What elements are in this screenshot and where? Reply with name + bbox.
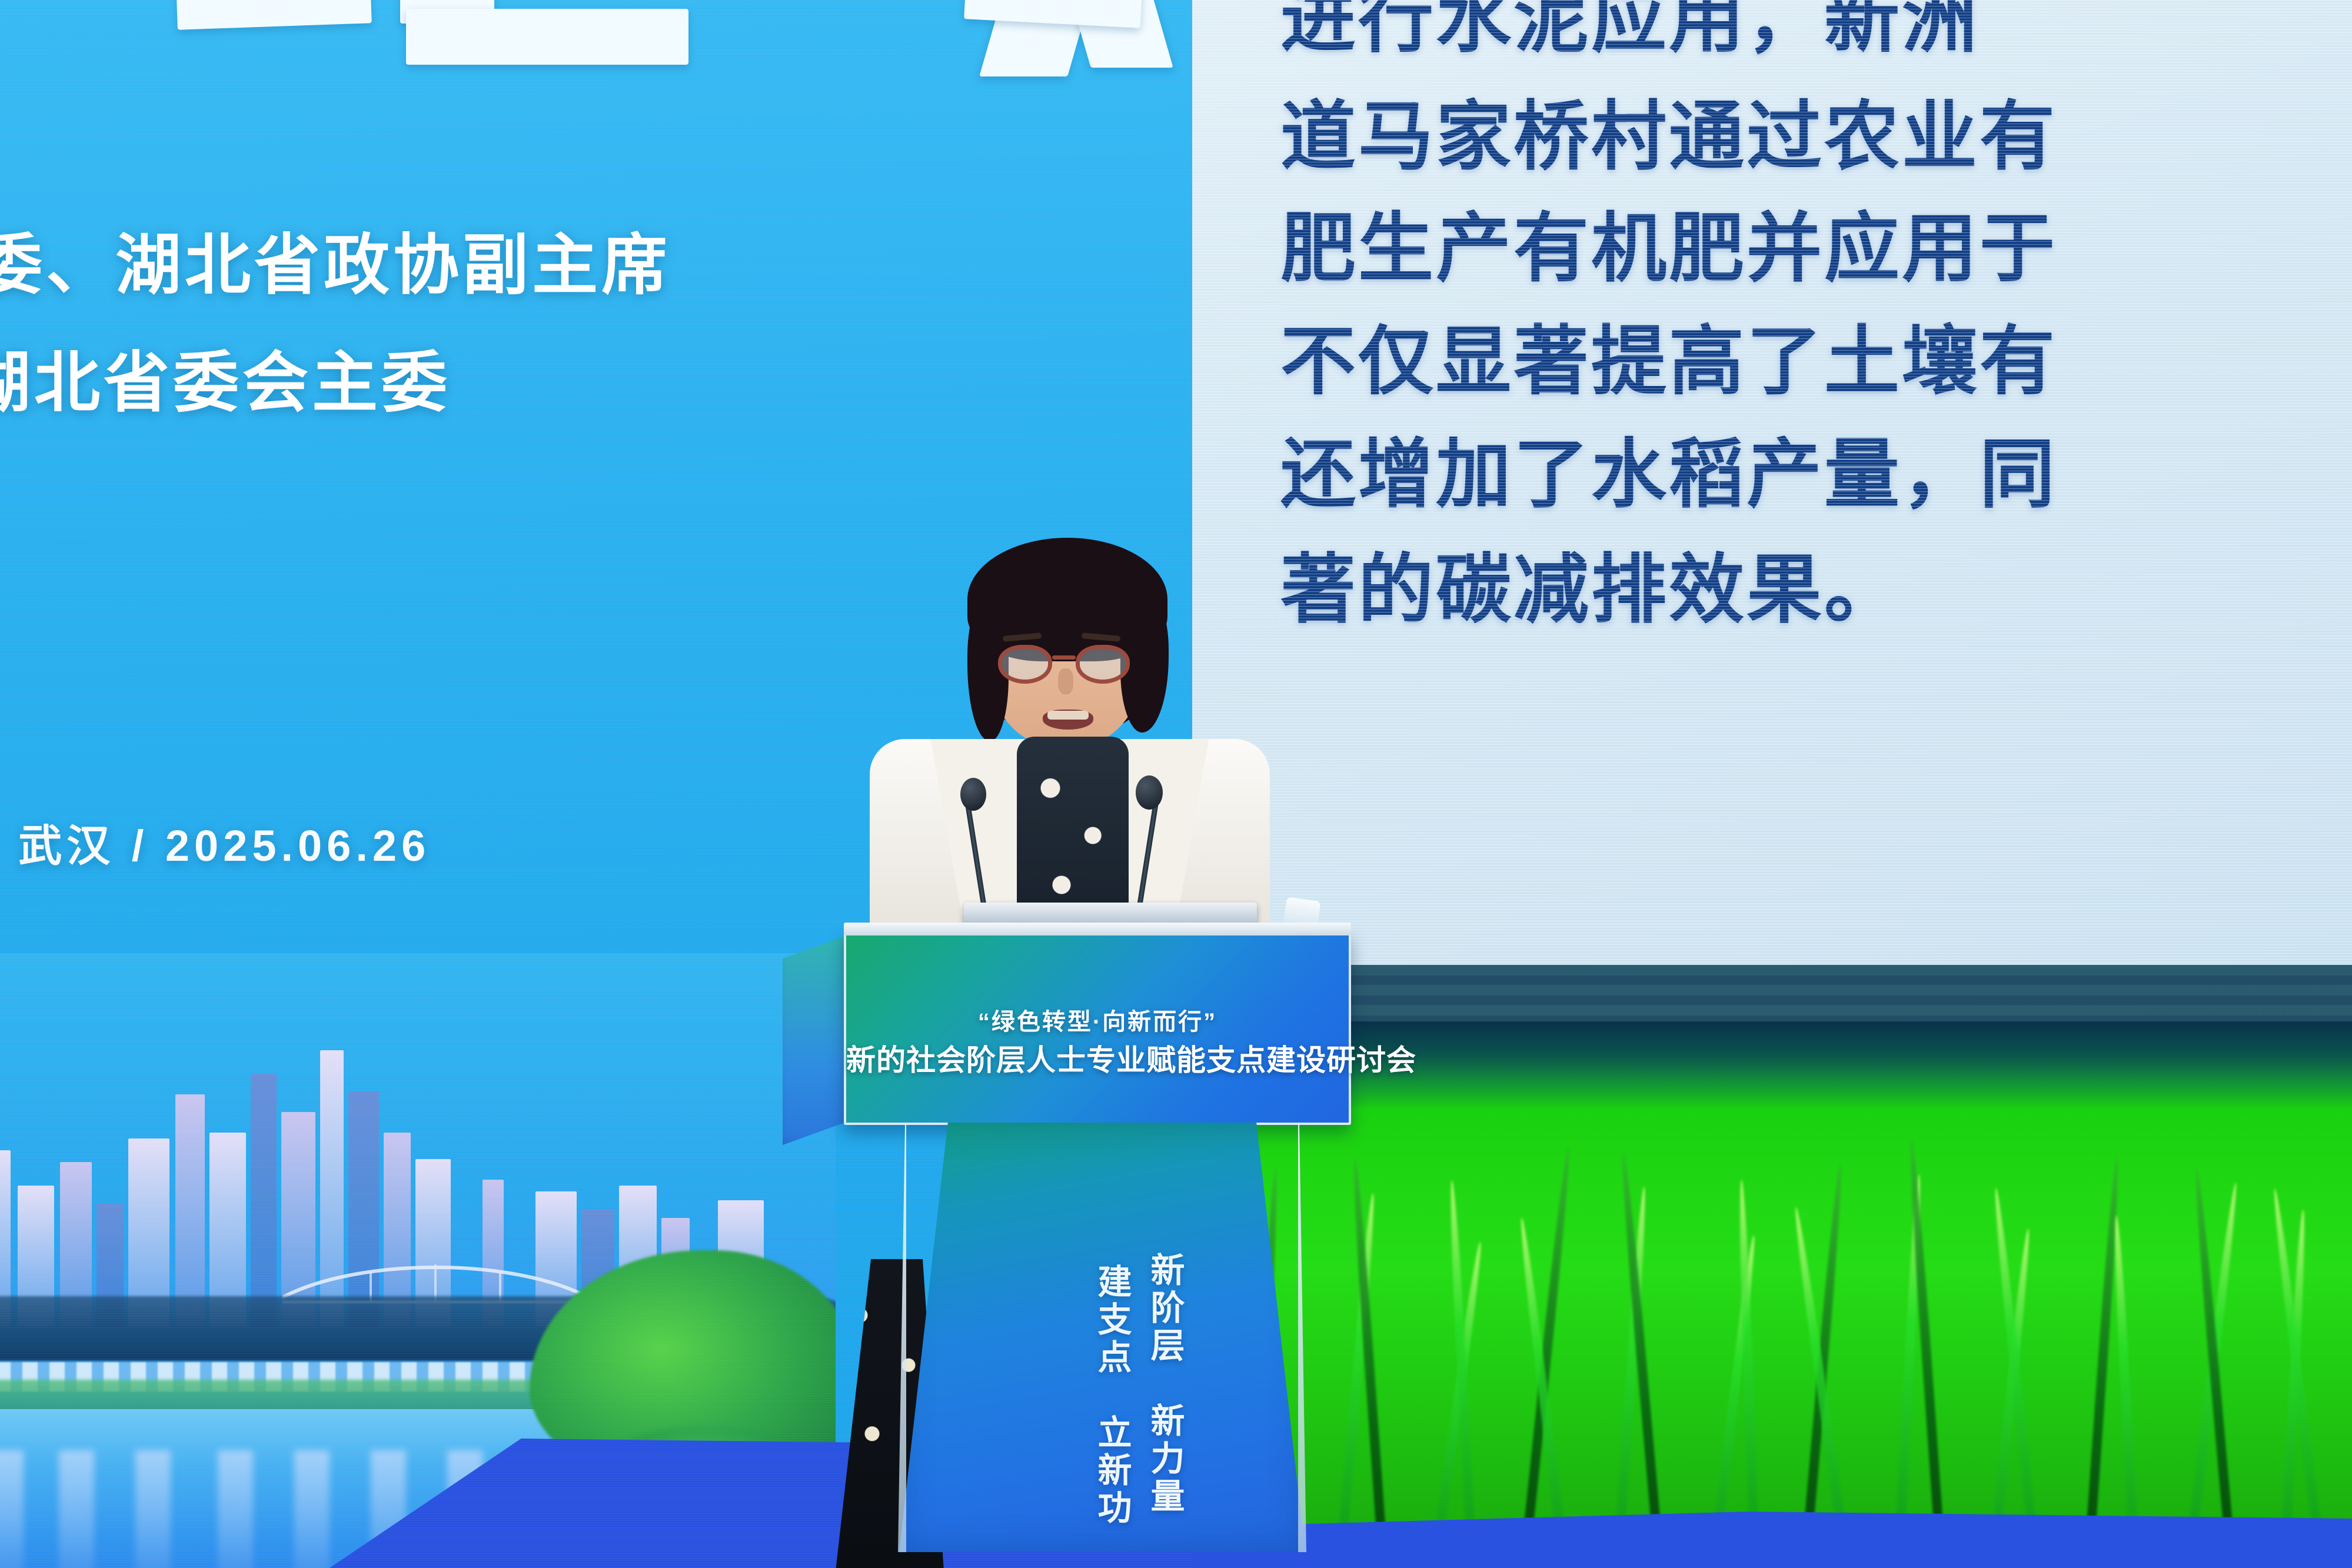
slogan-glyph: 支	[1092, 1301, 1130, 1339]
podium-edge-right	[1298, 1123, 1306, 1552]
slogan-glyph	[1145, 1365, 1183, 1403]
eyeglasses-lens-right	[1076, 645, 1130, 684]
slogan-glyph: 新	[1092, 1452, 1130, 1490]
backdrop-title-glyph-fragment	[175, 0, 371, 30]
slogan-glyph	[1092, 1377, 1130, 1414]
lectern-podium: “绿色转型·向新而行” 新的社会阶层人士专业赋能支点建设研讨会 中国·武汉 / …	[783, 887, 1406, 1568]
slide-text-line: 还增加了水稻产量，同	[1280, 413, 2057, 522]
podium-slogan-column-left: 建支点 立新功	[1091, 1264, 1131, 1527]
slogan-glyph: 新	[1145, 1252, 1183, 1290]
slogan-glyph: 功	[1092, 1490, 1130, 1527]
eyeglasses-lens-left	[998, 645, 1052, 684]
slide-text-line: 著的碳减排效果。	[1280, 528, 1902, 637]
slide-text-line: 不仅显著提高了土壤有	[1280, 300, 2057, 409]
slide-text-line: 肥生产有机肥并应用于	[1280, 187, 2057, 296]
slogan-glyph: 建	[1092, 1264, 1130, 1301]
skyline-building	[175, 1094, 205, 1327]
slogan-glyph: 量	[1145, 1478, 1183, 1516]
slogan-glyph: 力	[1145, 1440, 1183, 1478]
backdrop-caption-line-1: 委、湖北省政协副主席	[0, 212, 671, 307]
podium-top-cap	[844, 923, 1351, 936]
backdrop-caption-line-2: 湖北省委会主委	[0, 329, 451, 425]
podium-side-panel	[783, 933, 853, 1145]
microphone-icon	[960, 778, 986, 811]
skyline-building	[251, 1074, 277, 1327]
slogan-glyph: 阶	[1145, 1290, 1183, 1327]
podium-headline: “绿色转型·向新而行”	[846, 1003, 1349, 1037]
slogan-glyph: 点	[1092, 1339, 1130, 1377]
conference-stage-photo: 委、湖北省政协副主席 湖北省委会主委 · 武汉 / 2025.06.26	[0, 0, 2352, 1568]
eyeglasses-bridge	[1052, 655, 1076, 660]
projection-screen: 进行水泥应用，新洲 道马家桥村通过农业有 肥生产有机肥并应用于 不仅显著提高了土…	[1192, 0, 2352, 1021]
backdrop-venue-date: · 武汉 / 2025.06.26	[0, 811, 430, 874]
slogan-glyph: 立	[1092, 1414, 1130, 1452]
podium-edge-left	[898, 1123, 906, 1552]
slide-text-line: 道马家桥村通过农业有	[1280, 75, 2057, 184]
teeth	[1047, 711, 1089, 720]
speaker-presenter	[823, 530, 1305, 941]
podium-subhead: 新的社会阶层人士专业赋能支点建设研讨会	[846, 1037, 1349, 1079]
nose	[1058, 668, 1073, 694]
slogan-glyph: 层	[1145, 1327, 1183, 1365]
backdrop-title-glyph-fragment	[406, 9, 688, 65]
slogan-glyph: 新	[1145, 1403, 1183, 1440]
microphone-icon	[1136, 775, 1163, 810]
podium-slogan-column-right: 新阶层 新力量	[1144, 1252, 1184, 1516]
slide-text-line: 进行水泥应用，新洲	[1280, 0, 1980, 66]
podium-header-panel: “绿色转型·向新而行” 新的社会阶层人士专业赋能支点建设研讨会	[844, 931, 1351, 1125]
